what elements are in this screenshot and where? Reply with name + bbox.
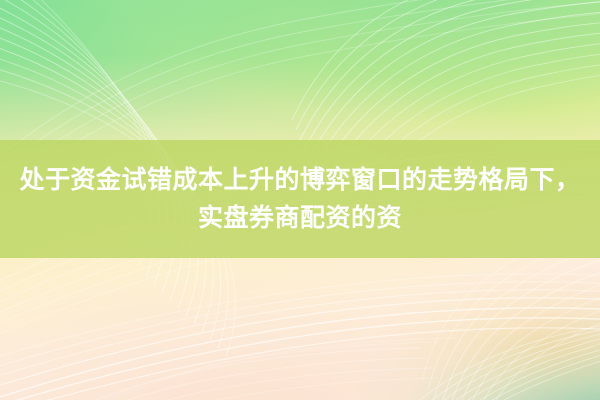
banner-image: 处于资金试错成本上升的博弈窗口的走势格局下， 实盘券商配资的资	[0, 0, 600, 400]
arc-fan-bottom-right-hatch	[420, 324, 600, 400]
headline-line-2: 实盘券商配资的资	[198, 199, 402, 237]
headline-band: 处于资金试错成本上升的博弈窗口的走势格局下， 实盘券商配资的资	[0, 140, 600, 258]
arc-fan-bottom-left-ripple	[0, 338, 456, 400]
arc-fan-bottom-sweep	[0, 274, 600, 400]
headline-line-1: 处于资金试错成本上升的博弈窗口的走势格局下，	[19, 161, 580, 199]
